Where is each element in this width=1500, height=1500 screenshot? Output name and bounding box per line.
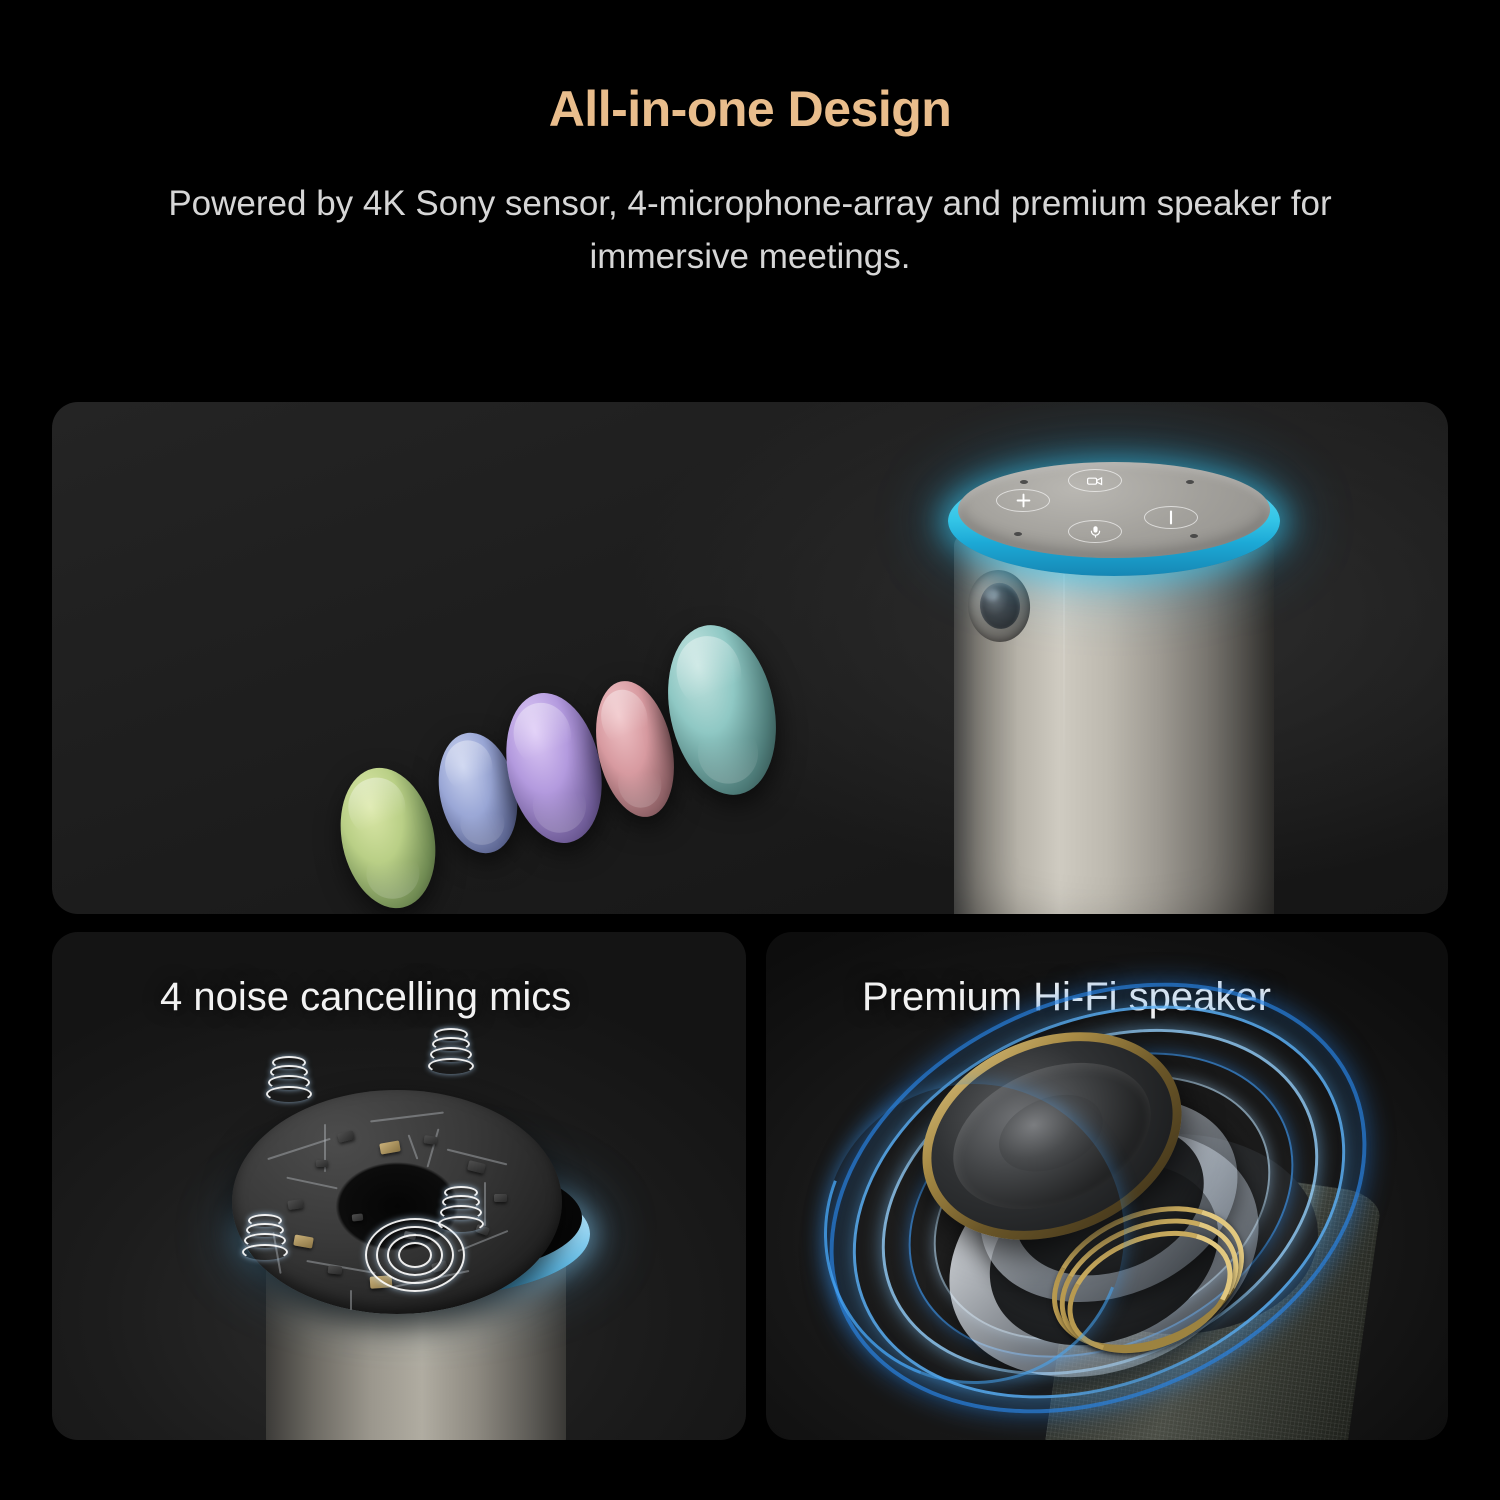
microphone-mute-button[interactable]	[1068, 520, 1122, 543]
device-speaker-assembly	[826, 1012, 1406, 1440]
microphone-icon-4	[438, 1186, 484, 1242]
lens-element-5	[653, 615, 790, 805]
status-led-4	[1190, 534, 1198, 538]
page-subtitle: Powered by 4K Sony sensor, 4-microphone-…	[140, 177, 1360, 283]
device-microphone-array	[170, 1022, 620, 1440]
camera-lens	[978, 581, 1023, 631]
plus-icon	[1016, 493, 1031, 508]
page-title: All-in-one Design	[0, 82, 1500, 137]
volume-up-button[interactable]	[996, 489, 1050, 512]
status-led-3	[1014, 532, 1022, 536]
microphone-icon-1	[266, 1056, 312, 1112]
panel-sony-cmos-sensor: Sony CMOS sensor	[52, 402, 1448, 914]
microphone-icon-3	[242, 1214, 288, 1270]
microphone-array-pcb	[232, 1090, 562, 1314]
volume-down-button[interactable]	[1144, 506, 1198, 529]
status-led-2	[1186, 480, 1194, 484]
speaker-dust-cap	[988, 1081, 1113, 1186]
lens-element-1	[328, 759, 448, 914]
microphone-icon	[1089, 525, 1102, 538]
microphone-icon-2	[428, 1028, 474, 1084]
device-cylinder-top	[912, 422, 1332, 914]
minus-icon	[1168, 510, 1174, 525]
page-header: All-in-one Design Powered by 4K Sony sen…	[0, 0, 1500, 283]
panel-noise-cancelling-mics: 4 noise cancelling mics	[52, 932, 746, 1440]
panel-hifi-speaker: Premium Hi-Fi speaker	[766, 932, 1448, 1440]
device-top-face	[958, 462, 1270, 558]
status-led-1	[1020, 480, 1028, 484]
video-icon	[1087, 476, 1103, 486]
video-camera-button[interactable]	[1068, 469, 1122, 492]
panel-label-mics: 4 noise cancelling mics	[160, 975, 571, 1020]
